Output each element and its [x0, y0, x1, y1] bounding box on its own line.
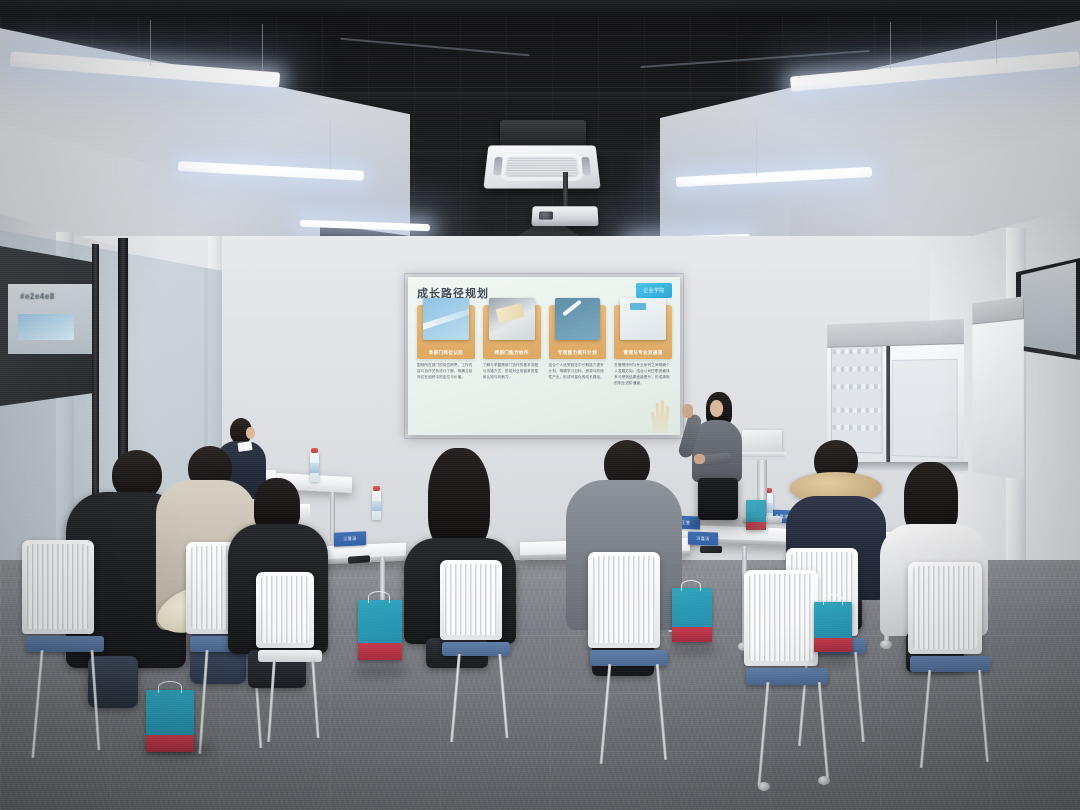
window-roller-blind — [827, 319, 964, 348]
window-right-far — [972, 296, 1023, 480]
bag-bottom-band — [358, 643, 402, 660]
light-suspension-stem — [756, 126, 757, 176]
panel-label: 专项能力提升计划 — [558, 350, 597, 356]
projector-lens — [539, 212, 553, 220]
bag-bottom-band — [814, 638, 852, 652]
gift-bag-4 — [814, 602, 852, 652]
wall-mounted-display — [1016, 258, 1080, 360]
panel-label: 管理与专业双通道 — [624, 350, 663, 356]
face — [246, 427, 255, 439]
light-suspension-stem — [330, 120, 331, 170]
bag-handle — [368, 591, 390, 603]
chair-backrest — [22, 540, 94, 634]
screen-frame — [404, 273, 684, 439]
chair-castor — [818, 776, 830, 785]
chair-backrest — [908, 562, 982, 654]
ceiling-projector — [531, 206, 598, 226]
ac-vent-left — [493, 157, 503, 175]
panel-label: 跨部门能力协作 — [494, 350, 528, 356]
bag-handle — [158, 681, 182, 693]
name-card: 汪雅涵 — [334, 531, 366, 547]
building-windows-row — [833, 425, 881, 431]
exterior-building-far — [892, 359, 958, 458]
ac-inner-panel — [501, 153, 583, 180]
bottle-cap — [373, 486, 380, 491]
bottle-cap — [311, 448, 318, 453]
bag-bottom-band — [146, 735, 194, 752]
projector-mount-pole — [563, 172, 568, 208]
chair-seat — [746, 668, 828, 685]
training-room-photo: #e2e4e8 成长路径规划 企业学院 — [0, 0, 1080, 810]
wall-display-screen — [1021, 262, 1076, 355]
ac-mounting-box — [500, 120, 586, 146]
panel-label: 本部门岗位认知 — [429, 350, 463, 356]
presenter-hand — [694, 454, 705, 464]
ceiling-ac-cassette — [483, 145, 600, 188]
presenter-raised-hand — [682, 404, 693, 418]
presenter-jacket — [692, 420, 742, 482]
light-suspension-stem — [890, 22, 891, 70]
bag-shadow — [668, 644, 718, 656]
poster-title: #e2e4e8 — [20, 292, 55, 301]
bottle-label — [310, 463, 319, 473]
bag-handle — [681, 580, 701, 591]
name-card-text: 汪雅涵 — [343, 536, 356, 543]
presenter-face — [710, 400, 723, 417]
water-bottle — [372, 490, 381, 520]
bottle-label — [372, 501, 381, 511]
gift-bag-3 — [672, 588, 712, 642]
chair-backrest — [440, 560, 502, 640]
long-black-hair — [428, 448, 490, 552]
ac-vent-right — [581, 157, 591, 175]
gift-bag-1 — [146, 690, 194, 752]
chair-backrest — [256, 572, 314, 648]
name-card: 冯嘉涛 — [688, 531, 718, 545]
glass-wall-poster: #e2e4e8 — [8, 284, 94, 354]
building-windows-row — [833, 384, 881, 389]
name-card-text: 冯嘉涛 — [696, 535, 709, 541]
chair-backrest — [744, 570, 818, 666]
chair-backrest — [588, 552, 660, 648]
person-presenter — [684, 392, 750, 522]
building-windows-row — [833, 408, 881, 413]
light-suspension-stem — [996, 20, 997, 64]
poster-image — [18, 314, 74, 340]
mobile-phone — [700, 546, 722, 553]
bag-shadow — [352, 664, 408, 678]
gift-bag-2 — [358, 600, 402, 660]
presenter-skirt — [698, 478, 738, 520]
ceiling-duct — [0, 0, 1080, 16]
light-suspension-stem — [262, 24, 263, 72]
bag-shadow — [810, 654, 858, 666]
bag-handle — [823, 594, 843, 605]
light-suspension-stem — [150, 20, 151, 66]
bag-bottom-band — [672, 627, 712, 642]
chair-castor — [758, 782, 770, 791]
building-windows-row — [833, 366, 881, 372]
